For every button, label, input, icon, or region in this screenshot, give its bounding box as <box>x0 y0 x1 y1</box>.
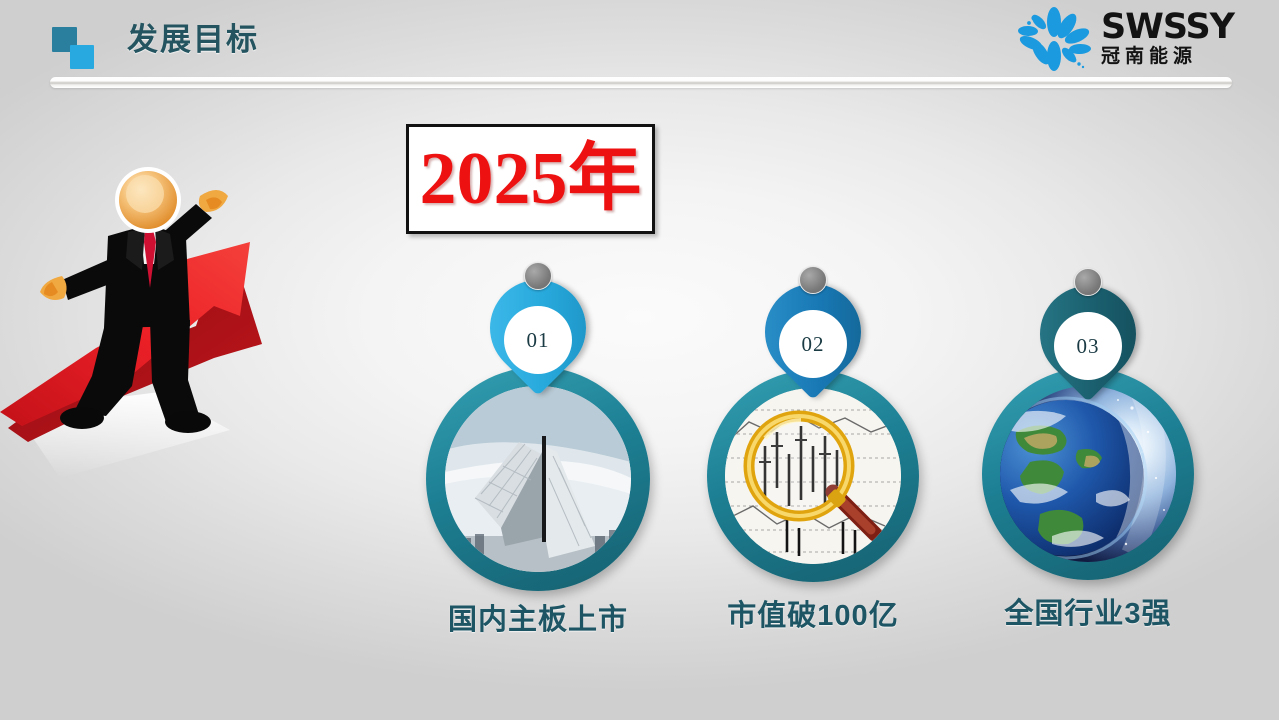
goal-number-03: 03 <box>1077 334 1100 359</box>
year-callout-box: 2025年 <box>406 124 655 234</box>
goal-item-02[interactable]: 02 市值破100亿 <box>700 266 926 618</box>
goal-caption-02: 市值破100亿 <box>727 592 898 634</box>
goal-caption-01: 国内主板上市 <box>448 596 628 638</box>
earth-illustration <box>1000 386 1176 562</box>
header-divider <box>50 77 1232 88</box>
pin-number-badge-03: 03 <box>1054 312 1122 380</box>
goal-photo-ring-02 <box>707 370 919 582</box>
logo-brand-latin: SWSSY <box>1101 8 1265 46</box>
year-label: 2025年 <box>420 139 642 219</box>
logo-brand-chinese: 冠南能源 <box>1101 45 1265 69</box>
goal-item-03[interactable]: 03 全国行业3强 <box>975 268 1201 620</box>
skyscraper-photo <box>445 386 631 572</box>
company-logo: SWSSY 冠南能源 <box>1015 4 1265 76</box>
goal-caption-03: 全国行业3强 <box>1004 590 1171 632</box>
skyscraper-illustration <box>445 386 631 572</box>
pin-head-01 <box>524 262 552 290</box>
earth-from-space-photo <box>1000 386 1176 562</box>
pin-head-02 <box>799 266 827 294</box>
goal-item-01[interactable]: 01 国内主板上市 <box>418 262 658 622</box>
goal-number-02: 02 <box>802 332 825 357</box>
slide-canvas: 发展目标 SWSSY 冠南能源 <box>0 0 1279 720</box>
pin-number-badge-02: 02 <box>779 310 847 378</box>
hero-illustration <box>0 130 420 510</box>
pin-number-badge-01: 01 <box>504 306 572 374</box>
page-title: 发展目标 <box>127 20 259 60</box>
goal-number-01: 01 <box>527 328 550 353</box>
water-petal-icon <box>1015 6 1093 74</box>
goal-photo-ring-01 <box>426 367 650 591</box>
magnifier-stock-chart-photo <box>725 388 901 564</box>
decor-square-cyan-icon <box>70 45 94 69</box>
logo-wordmark: SWSSY 冠南能源 <box>1101 8 1265 69</box>
pin-head-03 <box>1074 268 1102 296</box>
header-decor-squares <box>47 27 107 71</box>
magnifier-chart-illustration <box>725 388 901 564</box>
